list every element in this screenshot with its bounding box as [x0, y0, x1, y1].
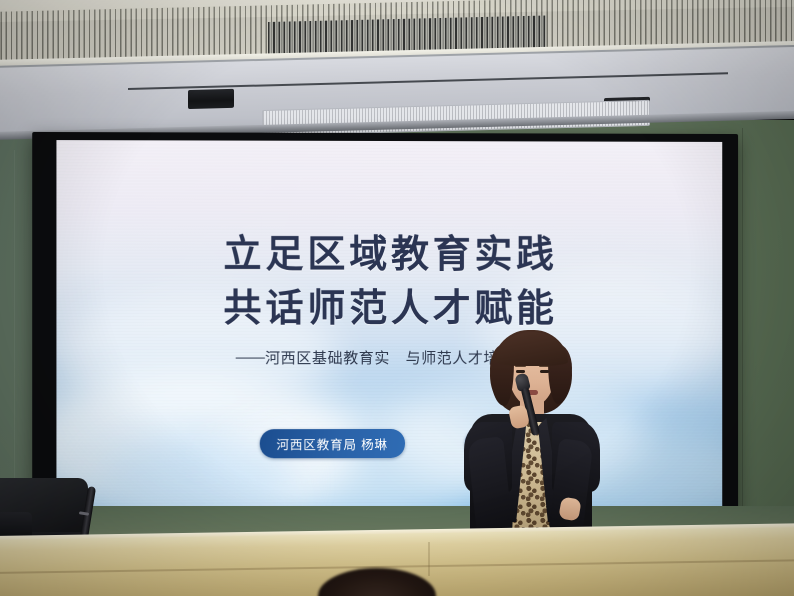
gooseneck-microphone-base: [0, 512, 32, 538]
presenter-eyebrow-left: [515, 365, 526, 367]
presenter: [456, 330, 606, 555]
podium-desk-panel-seam: [428, 542, 430, 576]
slide-subtitle: —— 河西区基础教育实 践 与师范人才培养对话: [56, 347, 722, 368]
slide-pill-presenter: 河西区教育局 杨琳: [259, 429, 405, 458]
presentation-photo-scene: 立足区域教育实践 共话师范人才赋能 —— 河西区基础教育实 践 与师范人才培养对…: [0, 0, 794, 596]
wall-panel-seam-left: [14, 150, 15, 500]
slide-title-line-1: 立足区域教育实践: [56, 222, 722, 278]
projection-screen-bezel: 立足区域教育实践 共话师范人才赋能 —— 河西区基础教育实 践 与师范人才培养对…: [32, 132, 738, 526]
projection-screen: 立足区域教育实践 共话师范人才赋能 —— 河西区基础教育实 践 与师范人才培养对…: [56, 140, 722, 516]
presenter-eyebrow-right: [539, 365, 550, 367]
slide-pill-row: 河西区教育局 杨琳 202: [56, 428, 722, 458]
presenter-eye-right: [540, 370, 549, 373]
subtitle-dash: ——: [236, 349, 264, 366]
subtitle-text-left: 河西区基础教育实: [265, 347, 390, 368]
track-spotlight-left-icon: [188, 89, 234, 109]
wall-panel-seam-right: [742, 128, 743, 533]
slide-title-line-2: 共话师范人才赋能: [56, 277, 722, 332]
slide-content: 立足区域教育实践 共话师范人才赋能 —— 河西区基础教育实 践 与师范人才培养对…: [56, 140, 722, 516]
gooseneck-ring: [79, 511, 89, 516]
